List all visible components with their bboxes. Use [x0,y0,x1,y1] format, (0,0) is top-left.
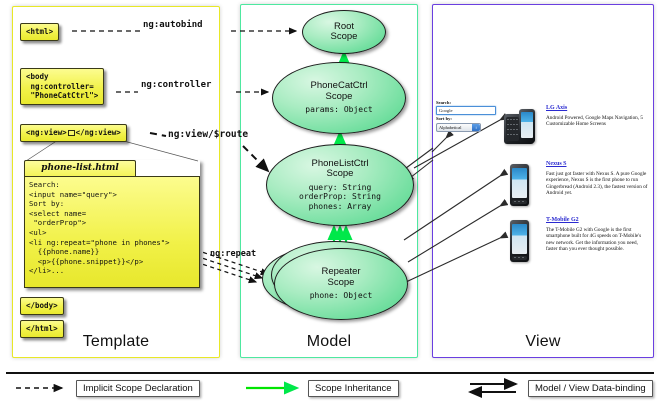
scope-root: RootScope [302,10,386,54]
scope-repeater: RepeaterScope phone: Object [274,248,408,320]
note-code: Search: <input name="query"> Sort by: <s… [24,176,200,288]
scope-phonecatctrl-title: PhoneCatCtrlScope [310,81,367,102]
phone-name-link[interactable]: LG Axis [546,104,650,112]
column-label-view: View [432,333,654,351]
phone-text: Nexus S Fast just got faster with Nexus … [546,160,650,197]
edge-label-ngview-route: ng:view/$route [168,129,248,140]
phone-snippet: Android Powered, Google Maps Navigation,… [546,115,650,128]
phone-list-item[interactable]: Nexus S Fast just got faster with Nexus … [502,160,652,216]
diagram-canvas: <html> <body ng:controller= "PhoneCatCtr… [0,0,660,405]
code-body-close: </body> [20,297,64,315]
legend-item-data-binding: Model / View Data-binding [468,378,653,398]
scope-repeater-props: phone: Object [310,291,373,301]
phone-name-link[interactable]: T-Mobile G2 [546,216,650,224]
scope-root-title: RootScope [331,22,358,43]
scope-phonelistctrl-props: query: String orderProp: String phones: … [299,183,381,212]
sort-label: Sort by: [436,116,498,122]
ngview-close-tag: </ng:view> [76,128,121,137]
scope-phonecatctrl-props: params: Object [305,105,372,115]
scope-repeater-title: RepeaterScope [321,267,360,288]
phone-list-note: phone-list.html Search: <input name="que… [24,160,200,288]
ngview-placeholder-icon [68,130,75,136]
phone-slider-icon [502,106,536,152]
scope-phonelistctrl-title: PhoneListCtrlScope [311,159,368,180]
legend-item-scope-inheritance: Scope Inheritance [244,378,399,398]
edge-label-autobind: ng:autobind [143,20,203,30]
column-label-model: Model [240,333,418,351]
phone-snippet: The T-Mobile G2 with Google is the first… [546,227,650,253]
chevron-updown-icon: ↕ [472,124,480,131]
scope-phonecatctrl: PhoneCatCtrlScope params: Object [272,62,406,134]
sort-select[interactable]: Alphabetical↕ [436,123,481,132]
note-title: phone-list.html [24,160,136,177]
legend: Implicit Scope Declaration Scope Inherit… [0,372,660,405]
sort-select-value: Alphabetical [439,125,461,130]
legend-label: Scope Inheritance [308,380,399,397]
ngview-open-tag: <ng:view> [26,128,67,137]
phone-candybar-icon [502,162,536,208]
phone-text: LG Axis Android Powered, Google Maps Nav… [546,104,650,128]
code-body-open: <body ng:controller= "PhoneCatCtrl"> [20,68,104,105]
search-panel: Search: Google Sort by: Alphabetical↕ [436,100,498,132]
edge-label-ngrepeat: ng:repeat [210,249,256,259]
phone-list-item[interactable]: T-Mobile G2 The T-Mobile G2 with Google … [502,216,652,272]
legend-label: Implicit Scope Declaration [76,380,200,397]
phone-candybar-icon [502,218,536,264]
scope-phonelistctrl: PhoneListCtrlScope query: String orderPr… [266,144,414,226]
edge-label-controller: ng:controller [141,80,211,90]
phone-name-link[interactable]: Nexus S [546,160,650,168]
search-input[interactable]: Google [436,106,496,115]
code-ngview-element: <ng:view></ng:view> [20,124,127,142]
legend-label: Model / View Data-binding [528,380,653,397]
column-label-template: Template [12,333,220,351]
phone-list-item[interactable]: LG Axis Android Powered, Google Maps Nav… [502,104,652,160]
phone-snippet: Fast just got faster with Nexus S. A pur… [546,171,650,197]
legend-item-implicit-scope: Implicit Scope Declaration [16,378,200,398]
legend-divider [6,372,654,374]
code-html-open: <html> [20,23,59,41]
phone-text: T-Mobile G2 The T-Mobile G2 with Google … [546,216,650,253]
